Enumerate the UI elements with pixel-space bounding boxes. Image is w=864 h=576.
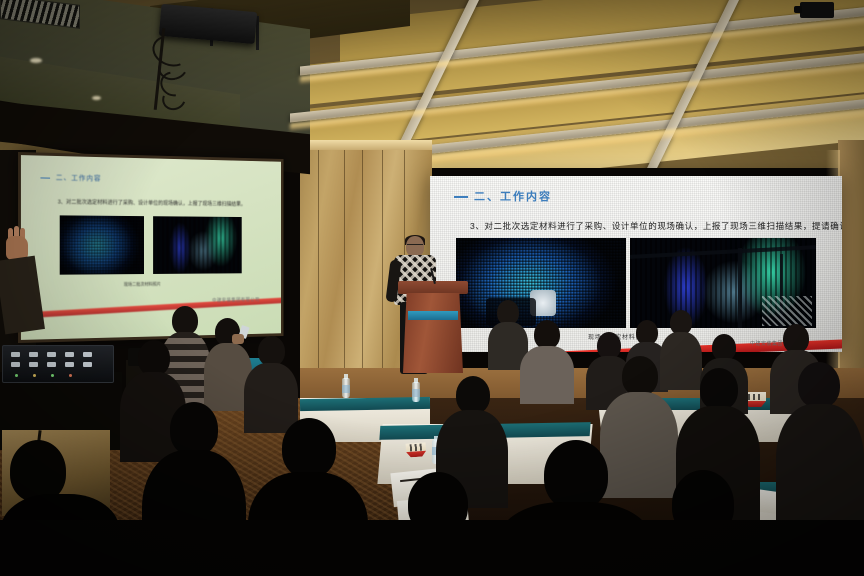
audio-mixing-console[interactable]: [2, 345, 114, 383]
slide-photo-left: [456, 238, 626, 328]
slide-body-line: 3、对二批次选定材料进行了采购、设计单位的现场确认，上报了现场三维扫描结果，提请…: [470, 220, 842, 232]
lectern: [398, 281, 468, 375]
lectern-body: [403, 293, 463, 373]
proj-slide-heading: 二、工作内容: [56, 173, 102, 184]
slide-bullet-dash: [40, 177, 50, 178]
table-runner: [300, 397, 430, 411]
projection-surface: 二、工作内容 3、对二批次选定材料进行了采购、设计单位的现场确认，上报了现场三维…: [21, 155, 281, 340]
ceiling-spot-light: [800, 2, 834, 18]
audience-member: [244, 336, 298, 430]
audience-hand: [232, 334, 244, 344]
slide-bullet-dash: [454, 196, 468, 198]
audience-member: [776, 362, 864, 532]
water-bottle: [412, 382, 420, 402]
photo-mesh-detail: [762, 296, 812, 326]
slide-photo-right: [630, 238, 816, 328]
foreground-shadow: [0, 520, 864, 576]
ceiling-downlight: [92, 96, 101, 100]
left-projection-screen: 二、工作内容 3、对二批次选定材料进行了采购、设计单位的现场确认，上报了现场三维…: [18, 152, 284, 343]
proj-slide-footer: 中建安装集团有限公司: [212, 296, 260, 303]
name-tent-card: [406, 442, 427, 457]
conference-hall-photo: 二、工作内容 3、对二批次选定材料进行了采购、设计单位的现场确认，上报了现场三维…: [0, 0, 864, 576]
proj-photo-caption: 现场二批次材料照片: [124, 282, 161, 288]
ceiling-downlight: [30, 58, 42, 63]
audience-member: [520, 320, 574, 400]
lectern-plaque: [408, 311, 458, 320]
presenter-glasses: [407, 244, 423, 248]
ceiling-projector: [160, 8, 290, 118]
slide-heading: 二、工作内容: [474, 188, 552, 204]
proj-photo-left: [60, 215, 144, 274]
proj-slide-body: 3、对二批次选定材料进行了采购、设计单位的现场确认，上报了现场三维扫描结果。: [58, 198, 266, 208]
water-bottle: [342, 378, 350, 398]
proj-photo-right: [153, 216, 242, 274]
